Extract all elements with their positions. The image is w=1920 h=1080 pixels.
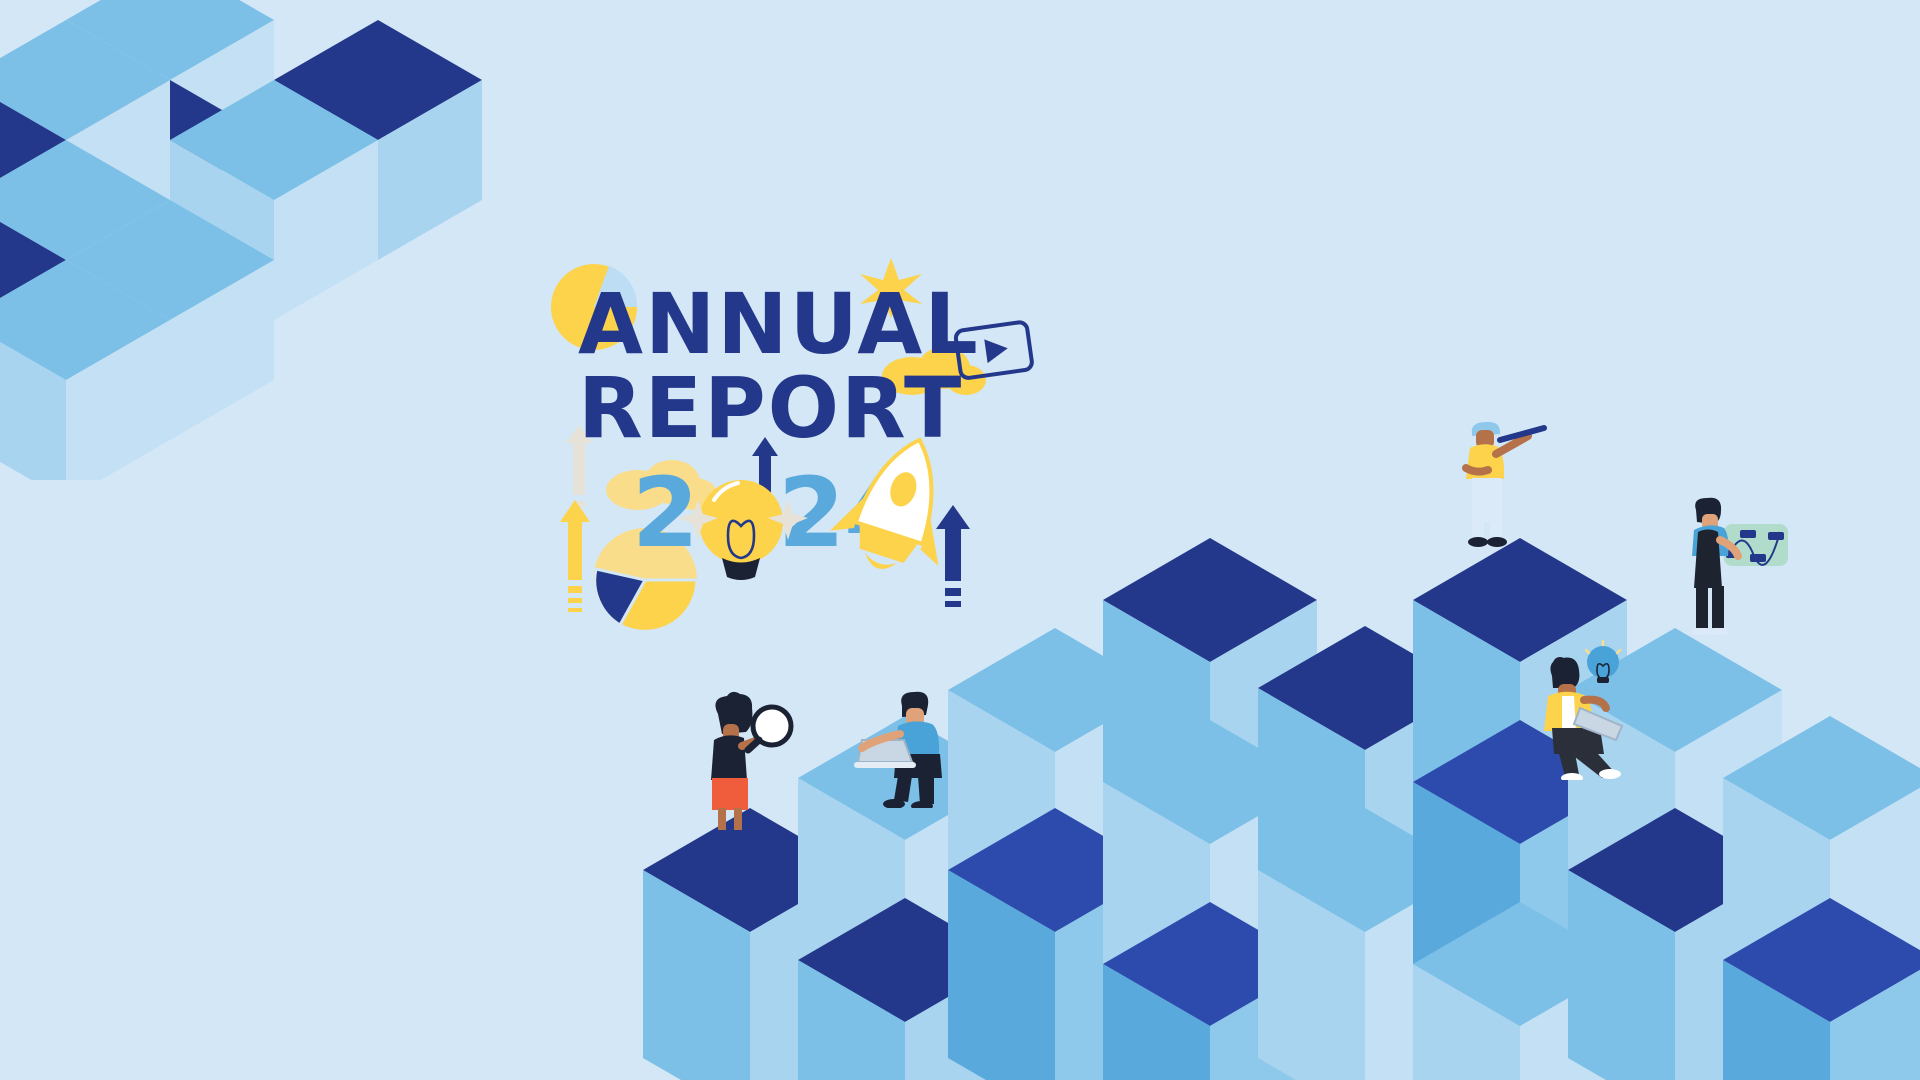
woman-with-magnifier [688,690,798,830]
character-layer [0,0,1920,1080]
woman-with-laptop-idea [1536,640,1666,780]
man-with-laptop [846,688,976,808]
man-with-telescope [1452,416,1562,556]
annual-report-poster: ANNUAL REPORT 2 2 4 [0,0,1920,1080]
lightbulb-icon [1586,641,1620,683]
person-with-chart-board [1672,496,1802,646]
